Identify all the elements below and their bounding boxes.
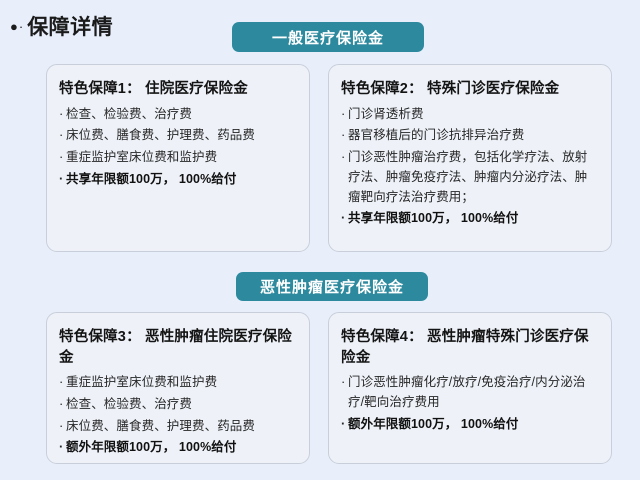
list-item: 检查、检验费、治疗费 — [59, 105, 297, 125]
list-item-highlight: 额外年限额100万， 100%给付 — [341, 415, 599, 435]
list-item: 床位费、膳食费、护理费、药品费 — [59, 126, 297, 146]
benefit-card-title: 特色保障2： 特殊门诊医疗保险金 — [341, 79, 599, 100]
benefit-list: 门诊恶性肿瘤化疗/放疗/免疫治疗/内分泌治疗/靶向治疗费用 额外年限额100万，… — [341, 373, 599, 434]
benefit-list: 重症监护室床位费和监护费 检查、检验费、治疗费 床位费、膳食费、护理费、药品费 … — [59, 373, 297, 458]
list-item: 检查、检验费、治疗费 — [59, 395, 297, 415]
section-banner-malignant-tumor: 恶性肿瘤医疗保险金 — [236, 272, 428, 301]
section-banner-general-medical: 一般医疗保险金 — [232, 22, 424, 52]
benefit-card-title: 特色保障4： 恶性肿瘤特殊门诊医疗保险金 — [341, 327, 599, 368]
list-item: 重症监护室床位费和监护费 — [59, 373, 297, 393]
benefit-card-title: 特色保障3： 恶性肿瘤住院医疗保险金 — [59, 327, 297, 368]
benefit-card-1: 特色保障1： 住院医疗保险金 检查、检验费、治疗费 床位费、膳食费、护理费、药品… — [46, 64, 310, 252]
list-item: 重症监护室床位费和监护费 — [59, 148, 297, 168]
list-item-highlight: 共享年限额100万， 100%给付 — [341, 209, 599, 229]
benefit-list: 门诊肾透析费 器官移植后的门诊抗排异治疗费 门诊恶性肿瘤治疗费，包括化学疗法、放… — [341, 105, 599, 230]
list-item: 门诊恶性肿瘤化疗/放疗/免疫治疗/内分泌治疗/靶向治疗费用 — [341, 373, 599, 413]
benefit-card-2: 特色保障2： 特殊门诊医疗保险金 门诊肾透析费 器官移植后的门诊抗排异治疗费 门… — [328, 64, 612, 252]
list-item: 器官移植后的门诊抗排异治疗费 — [341, 126, 599, 146]
benefit-card-4: 特色保障4： 恶性肿瘤特殊门诊医疗保险金 门诊恶性肿瘤化疗/放疗/免疫治疗/内分… — [328, 312, 612, 464]
page-header: ●· 保障详情 — [10, 12, 113, 40]
benefit-list: 检查、检验费、治疗费 床位费、膳食费、护理费、药品费 重症监护室床位费和监护费 … — [59, 105, 297, 190]
list-item: 门诊肾透析费 — [341, 105, 599, 125]
list-item-highlight: 共享年限额100万， 100%给付 — [59, 170, 297, 190]
list-item: 门诊恶性肿瘤治疗费，包括化学疗法、放射疗法、肿瘤免疫疗法、肿瘤内分泌疗法、肿瘤靶… — [341, 148, 599, 207]
list-item: 床位费、膳食费、护理费、药品费 — [59, 417, 297, 437]
benefit-card-title: 特色保障1： 住院医疗保险金 — [59, 79, 297, 100]
page-title: 保障详情 — [27, 11, 113, 41]
list-item-highlight: 额外年限额100万， 100%给付 — [59, 438, 297, 458]
benefit-card-3: 特色保障3： 恶性肿瘤住院医疗保险金 重症监护室床位费和监护费 检查、检验费、治… — [46, 312, 310, 464]
bullet-marker-icon: ●· — [10, 20, 24, 33]
